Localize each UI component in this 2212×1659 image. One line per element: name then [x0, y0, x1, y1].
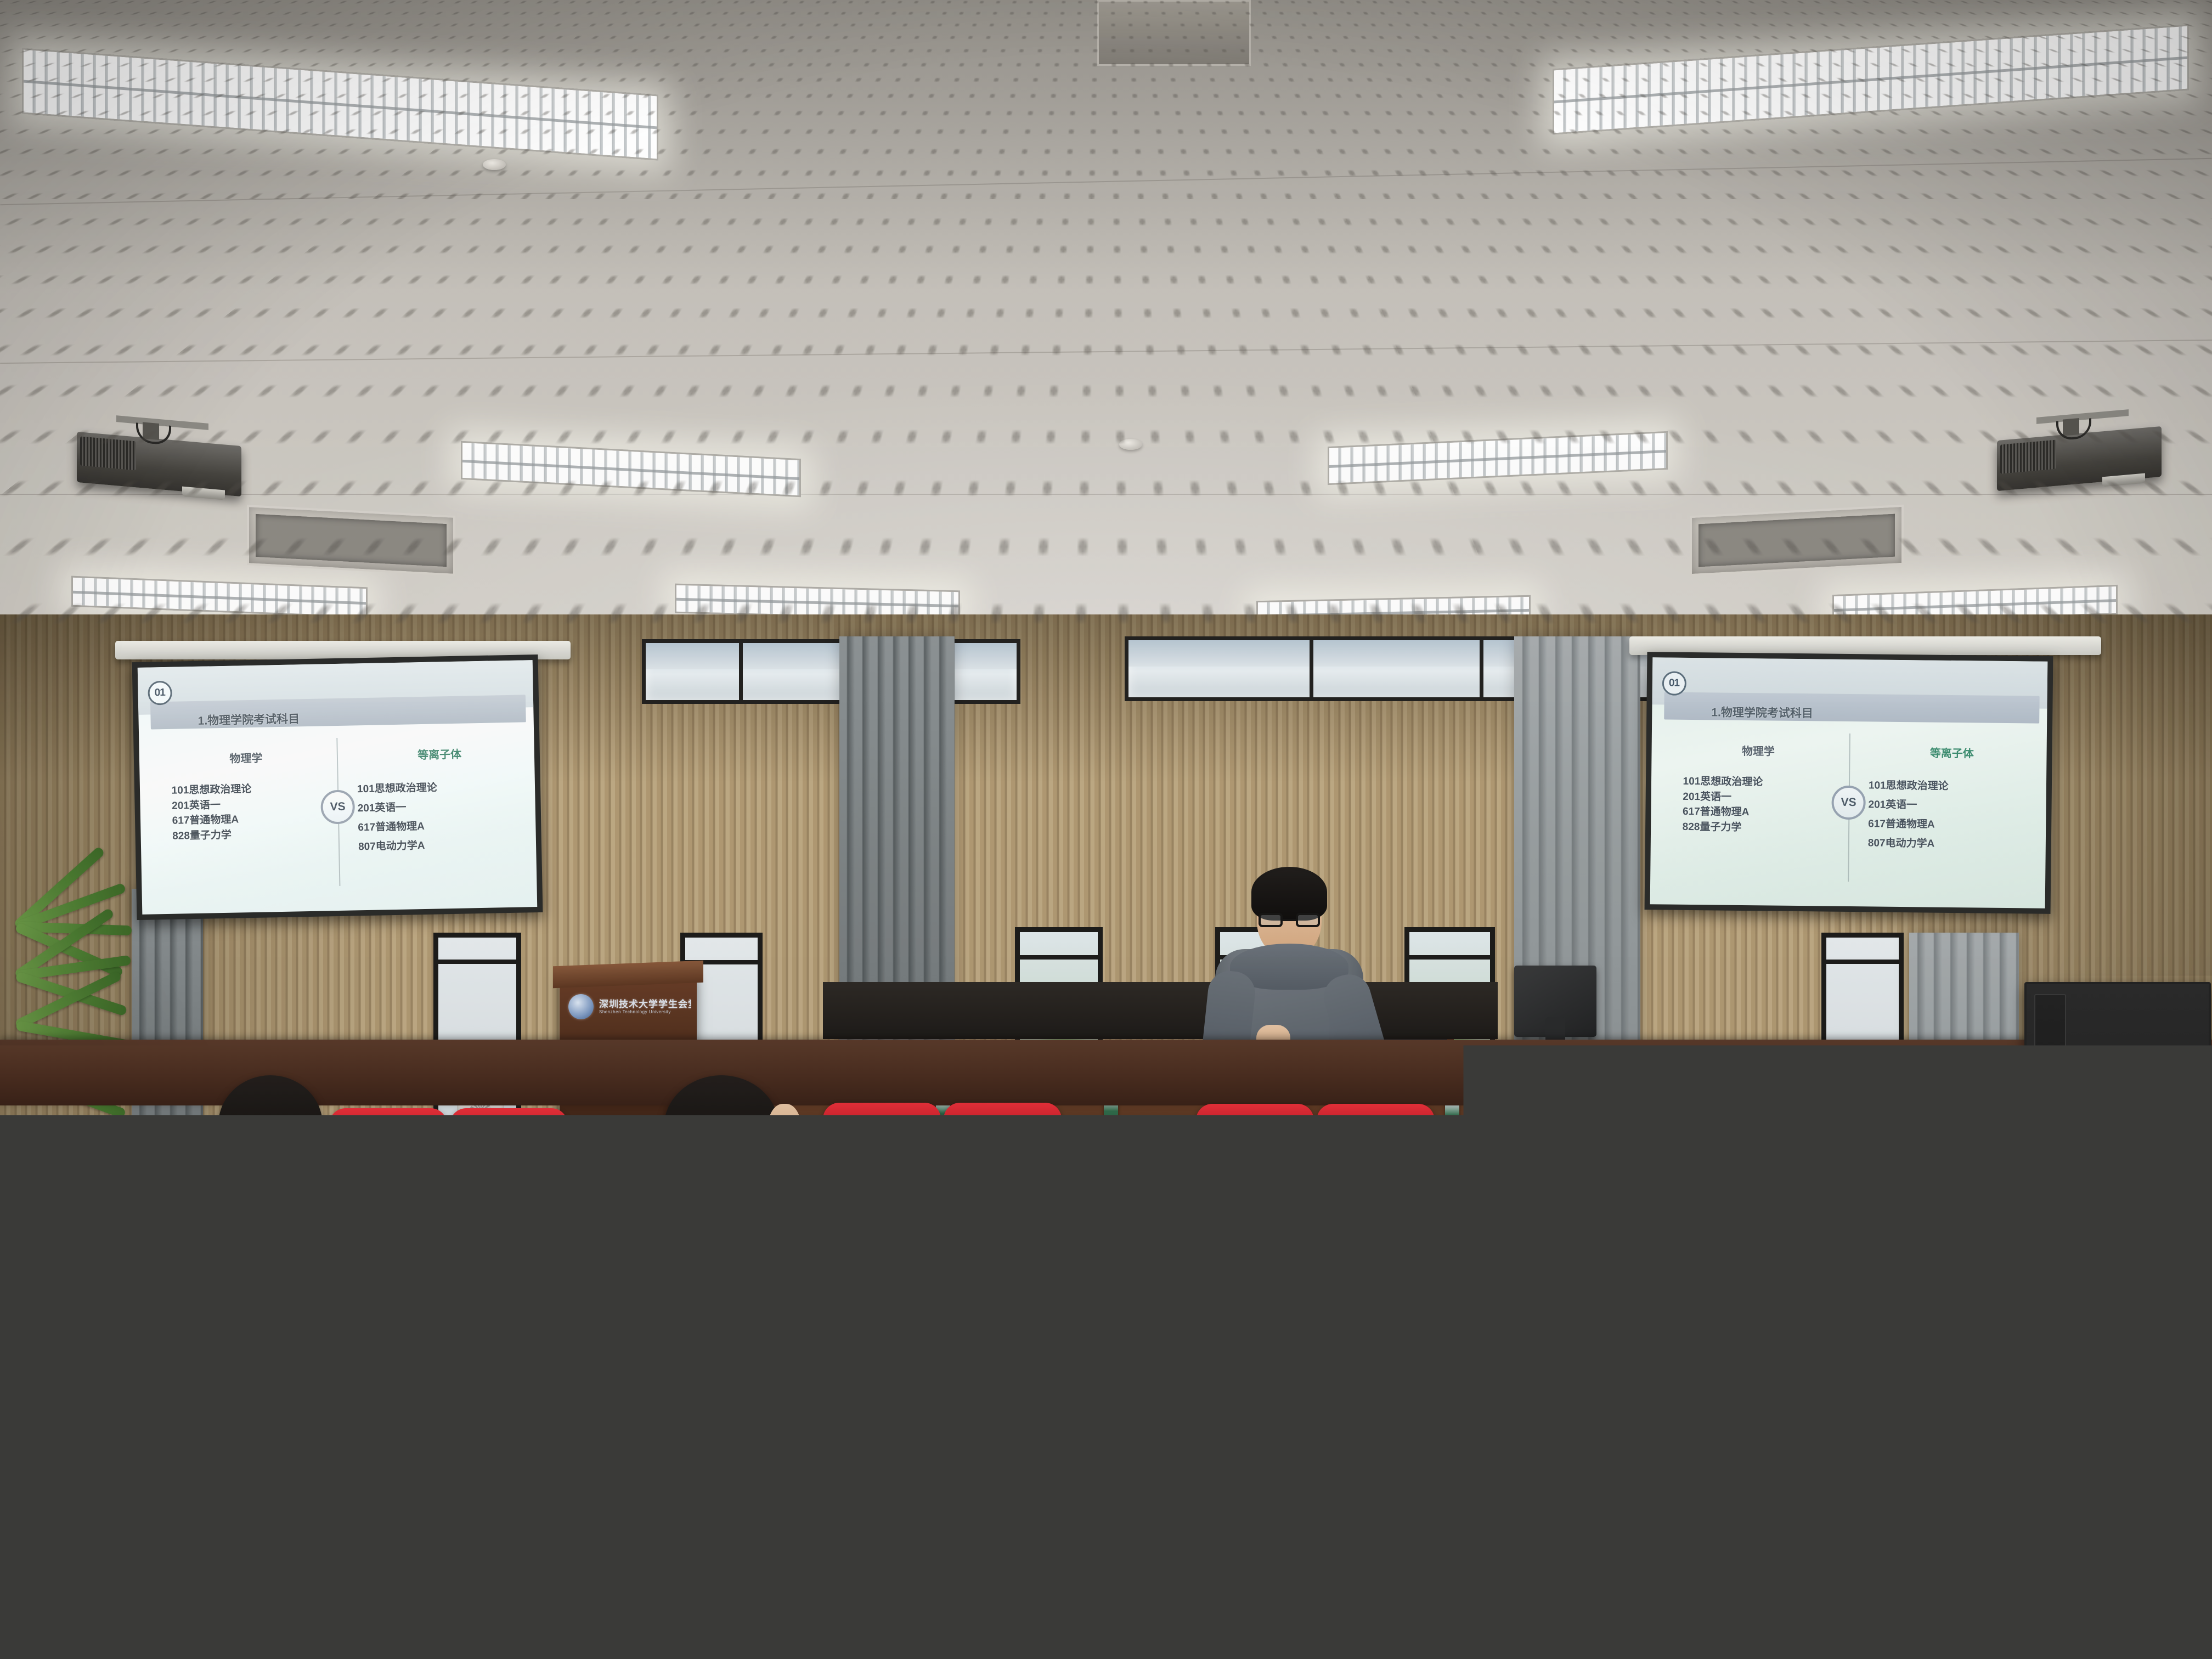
glasses-icon — [753, 1232, 799, 1238]
slide-column-right-item: 101思想政治理论 — [357, 777, 523, 799]
university-emblem-icon — [568, 994, 594, 1019]
slide-column-right-item: 617普通物理A — [358, 815, 524, 838]
slide-column-right-item: 201英语一 — [357, 796, 523, 819]
audience-seating — [0, 1108, 2212, 1659]
slide-column-right: 等离子体 101思想政治理论 201英语一 617普通物理A 807电动力学A — [357, 744, 524, 857]
podium-org-name-cn: 深圳技术大学学生会堂 — [599, 996, 691, 1010]
seat[interactable] — [505, 1492, 735, 1659]
smoke-detector-icon — [1119, 439, 1142, 450]
seat[interactable] — [1734, 1489, 1964, 1659]
face-mask — [10, 1465, 65, 1509]
slide-vs-badge: VS — [1831, 786, 1866, 820]
seat[interactable] — [461, 1328, 642, 1509]
seat[interactable] — [1723, 1328, 1904, 1509]
lecture-hall-photo: 01 1.物理学院考试科目 VS 物理学 101思想政治理论 201英语一 61… — [0, 0, 2212, 1659]
slide-surface: 01 1.物理学院考试科目 VS 物理学 101思想政治理论 201英语一 61… — [1650, 657, 2048, 909]
seat[interactable] — [1503, 1193, 1649, 1339]
audience-head — [2024, 1086, 2118, 1174]
seat[interactable] — [436, 1196, 582, 1341]
audience-face — [768, 1104, 801, 1154]
glasses-icon — [764, 1119, 801, 1125]
seat[interactable] — [285, 1196, 431, 1341]
clerestory-window — [642, 639, 1020, 704]
left-projection-screen: 01 1.物理学院考试科目 VS 物理学 101思想政治理论 201英语一 61… — [132, 654, 543, 920]
seat[interactable] — [88, 1328, 269, 1509]
seat[interactable] — [1163, 1322, 1344, 1503]
podium-org-name-en: Shenzhen Technology University — [599, 1009, 692, 1014]
seat[interactable] — [1347, 1190, 1492, 1336]
seat[interactable] — [1196, 1190, 1341, 1336]
hair-scrunchie — [1805, 1048, 1849, 1081]
slide-vs-badge: VS — [320, 789, 355, 824]
ceiling-air-diffuser — [247, 505, 455, 576]
seat[interactable] — [1654, 1193, 1799, 1339]
slide-column-left-item: 101思想政治理论 — [1683, 774, 1833, 791]
rack-label — [2079, 1077, 2118, 1082]
slide-column-left: 物理学 101思想政治理论 201英语一 617普通物理A 828量子力学 — [171, 748, 323, 844]
slide-header-title: 1.物理学院考试科目 — [1711, 704, 1813, 721]
seat[interactable] — [269, 1492, 499, 1659]
seat[interactable] — [823, 1190, 968, 1336]
slide-column-left-item: 617普通物理A — [1683, 804, 1833, 821]
seat[interactable] — [1498, 1487, 1728, 1659]
smoke-detector-icon — [483, 159, 506, 170]
slide-header-title: 1.物理学院考试科目 — [198, 710, 300, 729]
slide-column-right-item: 807电动力学A — [358, 834, 524, 857]
seat[interactable] — [134, 1196, 280, 1341]
glasses-icon — [1259, 913, 1320, 927]
seat[interactable] — [274, 1328, 455, 1509]
slide-column-left-item: 201英语一 — [1683, 789, 1833, 805]
slide-column-left: 物理学 101思想政治理论 201英语一 617普通物理A 828量子力学 — [1683, 742, 1833, 836]
slide-column-right-title: 等离子体 — [357, 744, 523, 764]
slide-column-left-title: 物理学 — [171, 748, 321, 767]
audience-head — [218, 1075, 323, 1174]
slide-column-left-item: 828量子力学 — [172, 826, 323, 844]
slide-surface: 01 1.物理学院考试科目 VS 物理学 101思想政治理论 201英语一 61… — [138, 660, 538, 915]
audience-shoulders — [878, 1602, 1229, 1659]
slide-column-right-item: 201英语一 — [1868, 795, 2034, 816]
slide-column-right-item: 617普通物理A — [1868, 815, 2034, 836]
stage-front-panel — [0, 1040, 2212, 1105]
slide-column-right-title: 等离子体 — [1869, 743, 2035, 761]
slide-badge-number: 01 — [1662, 672, 1686, 696]
seat[interactable] — [647, 1328, 828, 1509]
slide-column-right-item: 101思想政治理论 — [1869, 776, 2035, 797]
seat[interactable] — [1536, 1325, 1717, 1506]
right-projection-screen: 01 1.物理学院考试科目 VS 物理学 101思想政治理论 201英语一 61… — [1645, 652, 2053, 914]
slide-column-right-item: 807电动力学A — [1868, 834, 2034, 855]
stage-riser — [823, 982, 1498, 1039]
audience-head — [664, 1075, 779, 1180]
seat[interactable] — [1350, 1322, 1531, 1503]
ceiling-air-diffuser — [1690, 505, 1904, 576]
slide-column-left-title: 物理学 — [1683, 742, 1833, 759]
seat[interactable] — [1909, 1330, 2090, 1511]
ceiling-hvac-duct — [1097, 0, 1251, 66]
slide-column-right: 等离子体 101思想政治理论 201英语一 617普通物理A 807电动力学A — [1868, 743, 2035, 855]
seat[interactable] — [1262, 1487, 1492, 1659]
audience-face — [757, 1215, 797, 1277]
glasses-icon — [0, 1624, 71, 1629]
seat[interactable] — [1970, 1492, 2211, 1659]
slide-column-left-item: 828量子力学 — [1683, 819, 1833, 836]
